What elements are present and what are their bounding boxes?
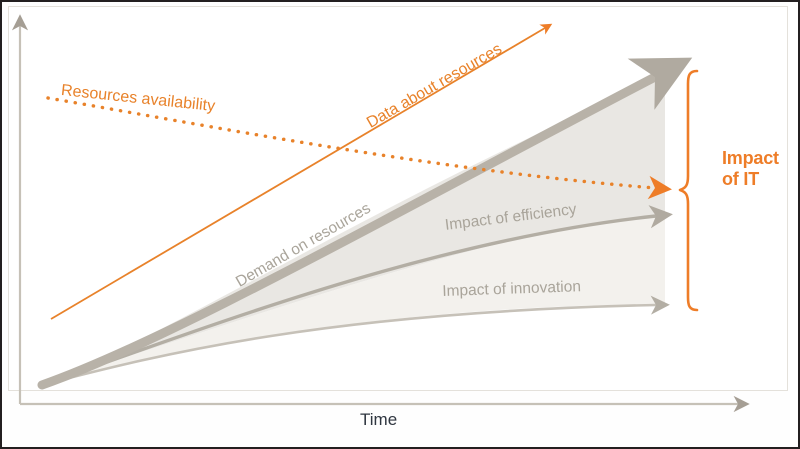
chart-figure: Resources availability Data about resour…	[0, 0, 800, 449]
impact-of-it-line2: of IT	[722, 169, 779, 190]
impact-of-it-brace	[680, 71, 697, 310]
impact-of-it-line1: Impact	[722, 148, 779, 169]
brace-path	[680, 71, 697, 310]
plot-canvas	[0, 0, 800, 449]
impact-of-it-label: Impact of IT	[722, 148, 779, 190]
x-axis-label: Time	[360, 410, 397, 430]
